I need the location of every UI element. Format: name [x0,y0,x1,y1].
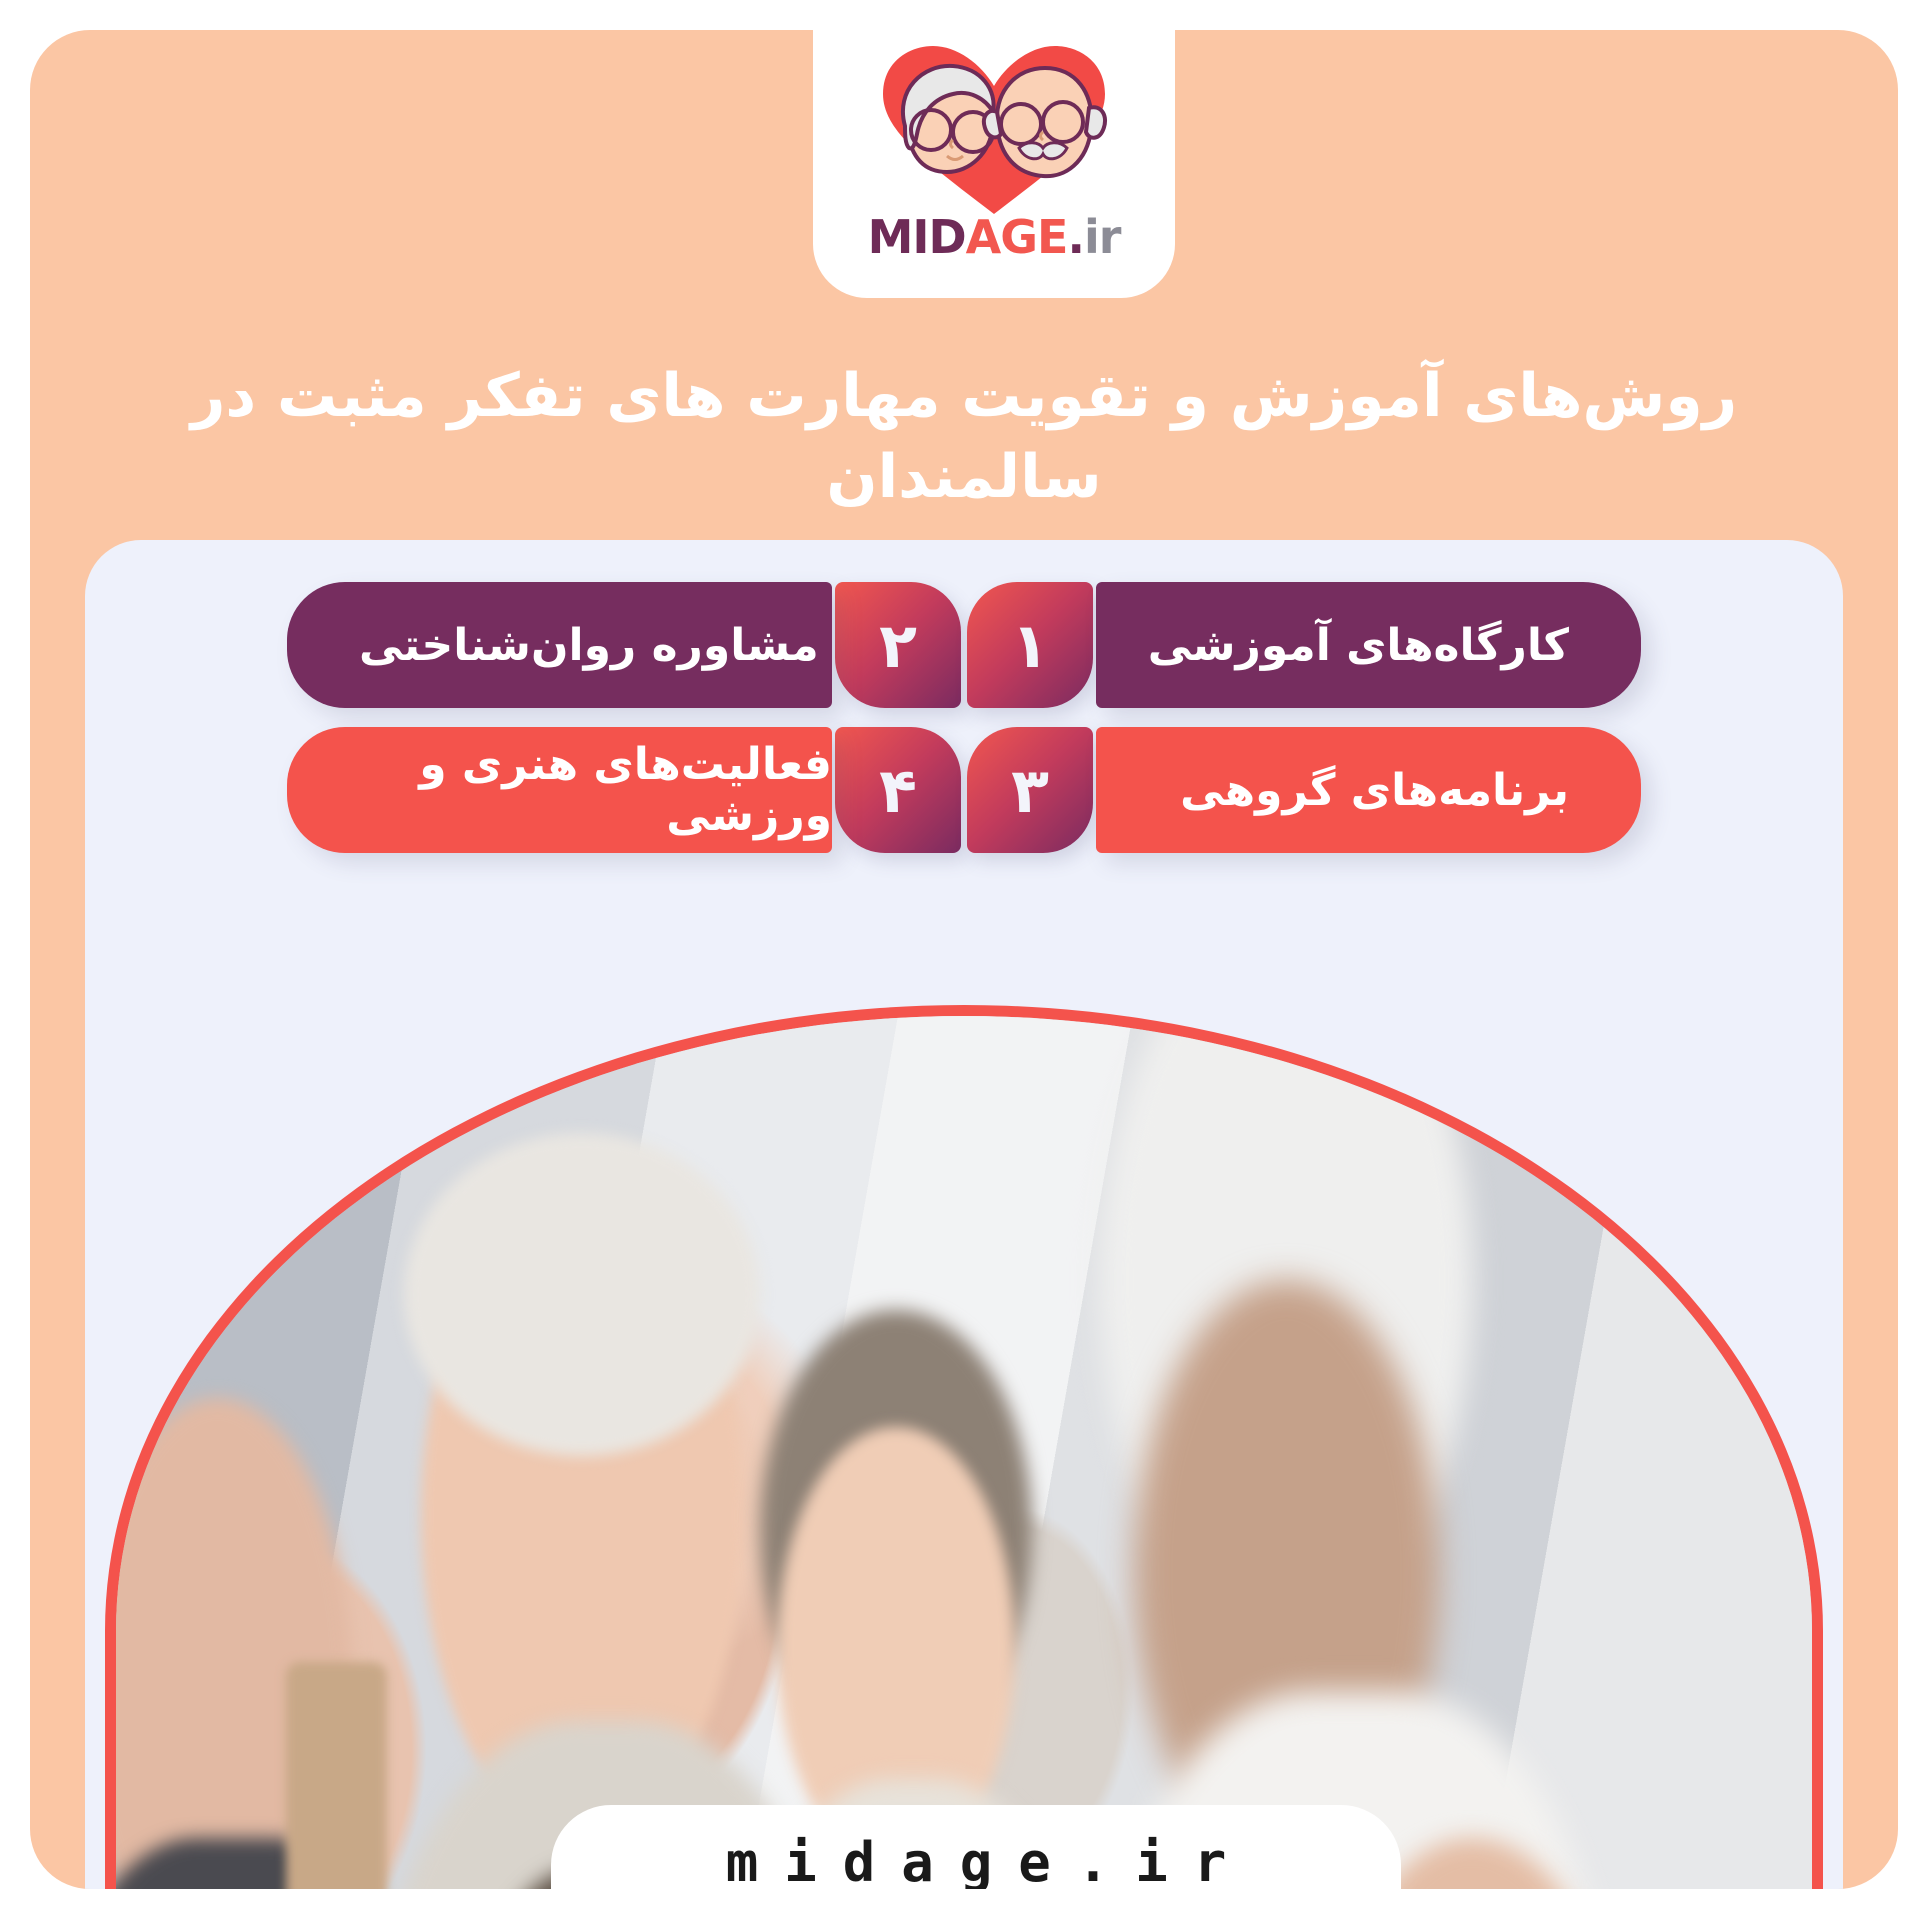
method-row-1: مشاوره روان‌شناختی ۲ ۱ کارگاه‌های آموزشی [85,575,1843,715]
list-item-number-3: ۳ [967,727,1093,853]
footer-url-tab: midage.ir [551,1805,1401,1889]
list-item-number-2: ۲ [835,582,961,708]
brand-wordmark: MIDAGE.ir [868,214,1121,260]
list-item-1[interactable]: کارگاه‌های آموزشی [1096,582,1641,708]
photo-container [85,1005,1843,1889]
list-item-label: کارگاه‌های آموزشی [1148,620,1569,671]
photo-arch-frame [105,1005,1823,1889]
footer-site-url[interactable]: midage.ir [700,1831,1253,1890]
page-title: روش‌های آموزش و تقویت مهارت های تفکر مثب… [90,356,1838,518]
content-card: مشاوره روان‌شناختی ۲ ۱ کارگاه‌های آموزشی… [85,540,1843,1889]
list-item-2[interactable]: مشاوره روان‌شناختی [287,582,832,708]
list-item-number-4: ۴ [835,727,961,853]
list-item-label: فعالیت‌های هنری و ورزشی [359,739,832,841]
elderly-couple-heart-icon [869,38,1119,220]
list-item-number-1: ۱ [967,582,1093,708]
list-item-label: مشاوره روان‌شناختی [359,620,819,671]
list-item-4[interactable]: فعالیت‌های هنری و ورزشی [287,727,832,853]
outer-peach-card: روش‌های آموزش و تقویت مهارت های تفکر مثب… [30,30,1898,1889]
list-item-3[interactable]: برنامه‌های گروهی [1096,727,1641,853]
elderly-people-photo [116,1016,1812,1889]
method-row-2: فعالیت‌های هنری و ورزشی ۴ ۳ برنامه‌های گ… [85,720,1843,860]
list-item-label: برنامه‌های گروهی [1180,765,1569,816]
brand-logo: MIDAGE.ir [813,30,1175,298]
